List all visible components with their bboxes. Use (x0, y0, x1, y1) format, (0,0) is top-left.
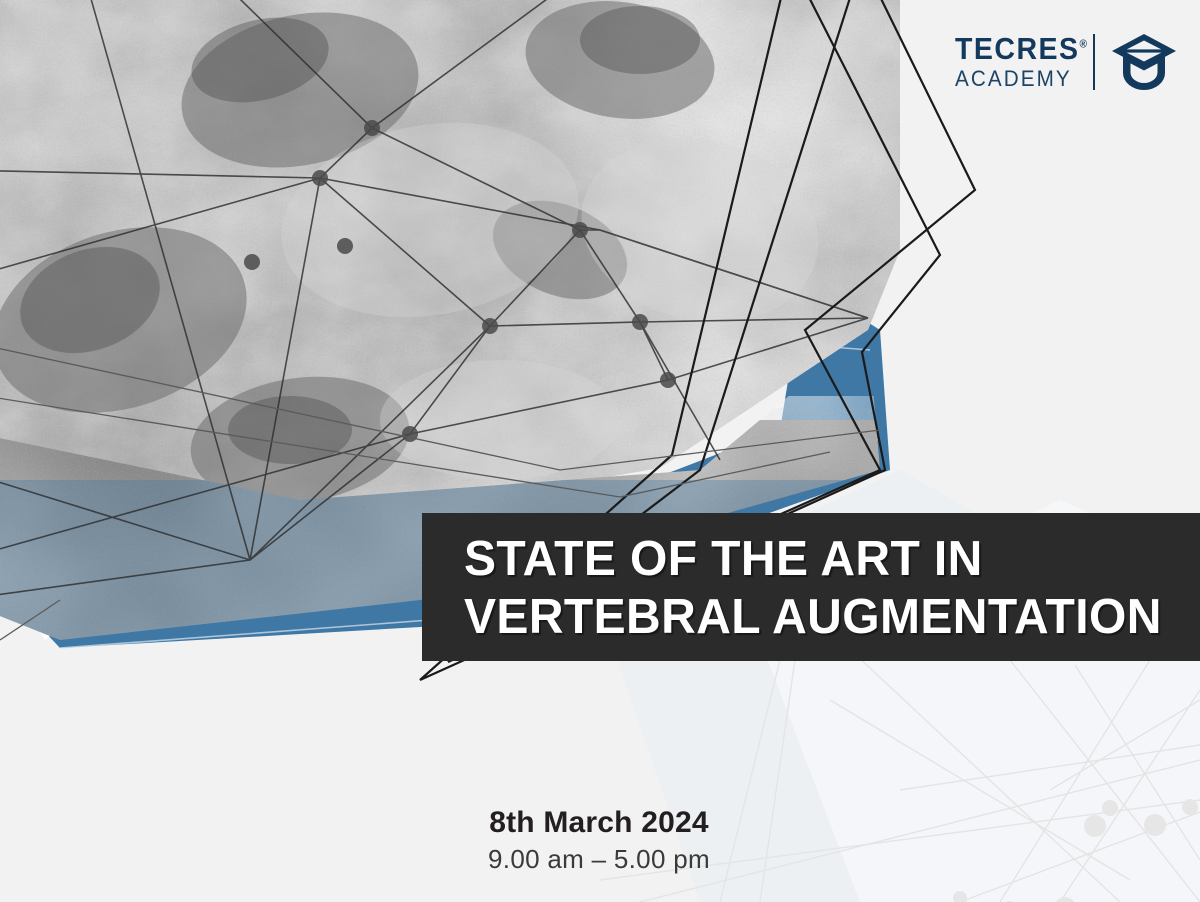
logo-divider (1093, 34, 1095, 90)
graduation-cap-icon (1111, 33, 1177, 91)
brand-wordmark: TECRES® ACADEMY (955, 33, 1075, 91)
event-poster: TECRES® ACADEMY STATE OF THE ART IN VERT… (0, 0, 1200, 902)
brand-name-text: TECRES (955, 31, 1080, 66)
title-banner: STATE OF THE ART IN VERTEBRAL AUGMENTATI… (422, 513, 1200, 661)
event-date-block: 8th March 2024 9.00 am – 5.00 pm (0, 805, 1200, 875)
event-date: 8th March 2024 (0, 805, 1199, 841)
artwork-background (0, 0, 1200, 902)
brand-name: TECRES® (955, 33, 1087, 65)
registered-mark-icon: ® (1080, 39, 1087, 51)
title-line-1: STATE OF THE ART IN (464, 530, 1185, 588)
event-time: 9.00 am – 5.00 pm (0, 843, 1199, 875)
brand-subname: ACADEMY (955, 67, 1072, 91)
title-line-2: VERTEBRAL AUGMENTATION (464, 588, 1185, 646)
artwork-svg (0, 0, 1200, 902)
brand-logo: TECRES® ACADEMY (955, 22, 1173, 102)
